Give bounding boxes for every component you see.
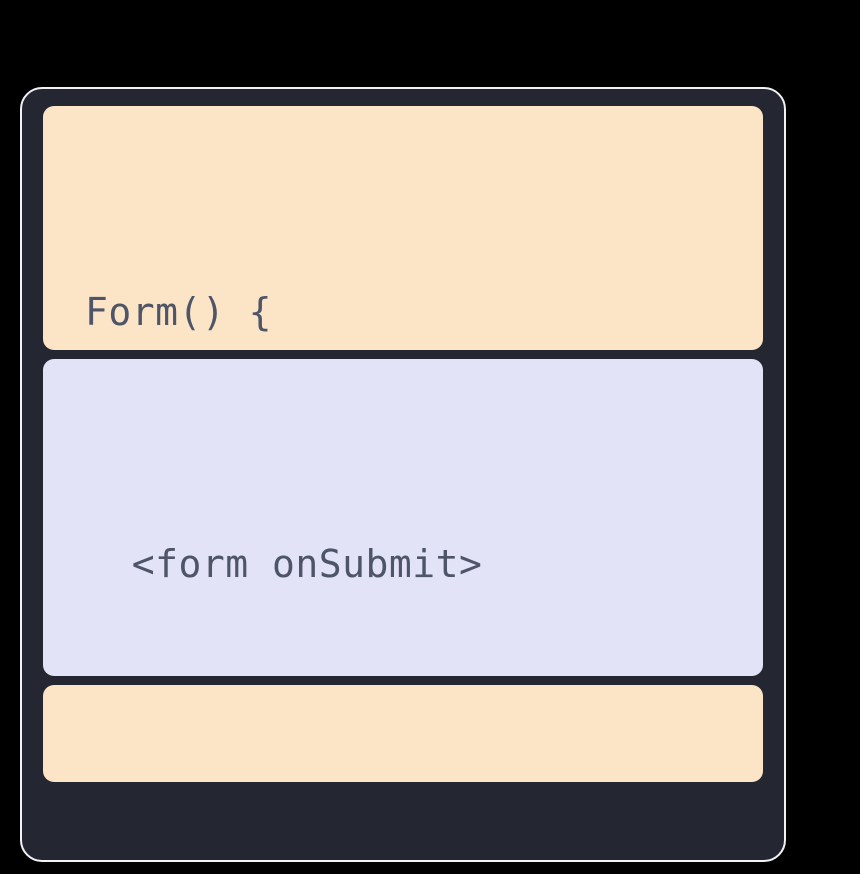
code-panel-component-function-open: Form() { onClick() {...} onSubmit() {...… — [43, 106, 763, 350]
code-panel-jsx-markup: <form onSubmit> <input onClick /> <input… — [43, 359, 763, 676]
code-line: Form() { — [85, 275, 739, 349]
screenshot-stage: Form() { onClick() {...} onSubmit() {...… — [0, 0, 860, 874]
code-panel-component-function-close: } — [43, 685, 763, 782]
code-line: <form onSubmit> — [85, 527, 739, 601]
code-card: Form() { onClick() {...} onSubmit() {...… — [20, 87, 786, 862]
